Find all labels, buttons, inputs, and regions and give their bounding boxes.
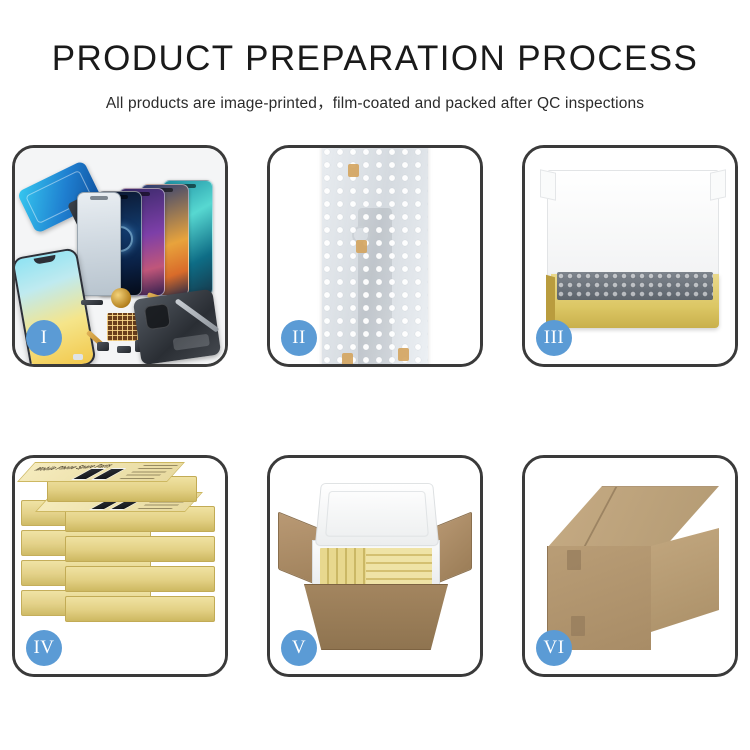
header: PRODUCT PREPARATION PROCESS All products… bbox=[0, 40, 750, 113]
stacked-box-3 bbox=[65, 536, 215, 562]
step-badge-4: IV bbox=[26, 630, 62, 666]
box-stack: Mobile Phone Spare Parts Mobile Phone Sp… bbox=[21, 476, 219, 656]
small-part-2 bbox=[97, 342, 109, 351]
foam-lid bbox=[315, 483, 439, 546]
phone-fan-group bbox=[75, 166, 220, 296]
bubble-wrap-bag bbox=[322, 148, 428, 364]
process-step-card-2[interactable]: II bbox=[267, 145, 483, 367]
gold-coil-part bbox=[111, 288, 131, 308]
tape-piece-1 bbox=[348, 164, 359, 177]
bubble-wrap-filling bbox=[557, 272, 713, 300]
step-badge-1: I bbox=[26, 320, 62, 356]
stacked-box-2: Mobile Phone Spare Parts bbox=[65, 506, 215, 532]
process-step-card-1[interactable]: I bbox=[12, 145, 228, 367]
open-box-lid bbox=[547, 170, 719, 288]
stacked-box-5 bbox=[65, 596, 215, 622]
process-step-card-5[interactable]: V bbox=[267, 455, 483, 677]
glass-screen-protector bbox=[77, 192, 121, 296]
small-part-6 bbox=[73, 354, 83, 360]
product-preparation-process-page: PRODUCT PREPARATION PROCESS All products… bbox=[0, 0, 750, 750]
step-badge-2: II bbox=[281, 320, 317, 356]
tape-piece-3 bbox=[342, 353, 353, 364]
small-part-3 bbox=[117, 346, 131, 353]
packed-kraft-boxes bbox=[320, 548, 432, 586]
tape-piece-4 bbox=[398, 348, 409, 361]
page-subtitle: All products are image-printed，film-coat… bbox=[0, 91, 750, 113]
stacked-box-4 bbox=[65, 566, 215, 592]
stacked-box-1: Mobile Phone Spare Parts bbox=[47, 476, 197, 502]
page-title: PRODUCT PREPARATION PROCESS bbox=[0, 40, 750, 79]
step-badge-3: III bbox=[536, 320, 572, 356]
box-top-face-1: Mobile Phone Spare Parts bbox=[17, 462, 185, 482]
process-step-card-6[interactable]: VI bbox=[522, 455, 738, 677]
process-step-card-4[interactable]: Mobile Phone Spare Parts Mobile Phone Sp… bbox=[12, 455, 228, 677]
process-step-grid: I II III bbox=[12, 145, 738, 685]
carton-tape-2 bbox=[571, 616, 585, 636]
process-step-card-3[interactable]: III bbox=[522, 145, 738, 367]
step-badge-6: VI bbox=[536, 630, 572, 666]
carton-tape-1 bbox=[567, 550, 581, 570]
small-part-1 bbox=[81, 300, 103, 305]
carton-side-face bbox=[651, 528, 719, 632]
carton-body bbox=[304, 584, 448, 650]
tape-piece-2 bbox=[356, 240, 367, 253]
step-badge-5: V bbox=[281, 630, 317, 666]
